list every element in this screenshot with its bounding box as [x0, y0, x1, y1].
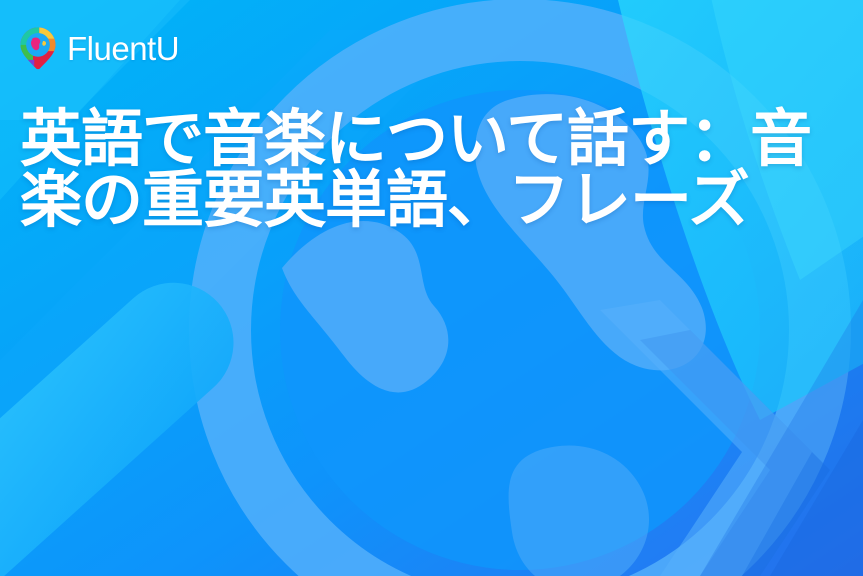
diagonal-stripe-shape [0, 258, 258, 576]
article-hero-banner: FluentU 英語で音楽について話す：音楽の重要英単語、フレーズ [0, 0, 863, 576]
diagonal-band-shape [0, 0, 470, 576]
chevron-shape [600, 300, 830, 576]
page-title: 英語で音楽について話す：音楽の重要英単語、フレーズ [20, 109, 820, 231]
hero-background-art [0, 0, 863, 576]
hero-title-block: 英語で音楽について話す：音楽の重要英単語、フレーズ [20, 109, 820, 231]
globe-pin-icon [18, 26, 58, 70]
fluentu-logo[interactable]: FluentU [18, 26, 179, 70]
fluentu-wordmark: FluentU [67, 32, 179, 65]
